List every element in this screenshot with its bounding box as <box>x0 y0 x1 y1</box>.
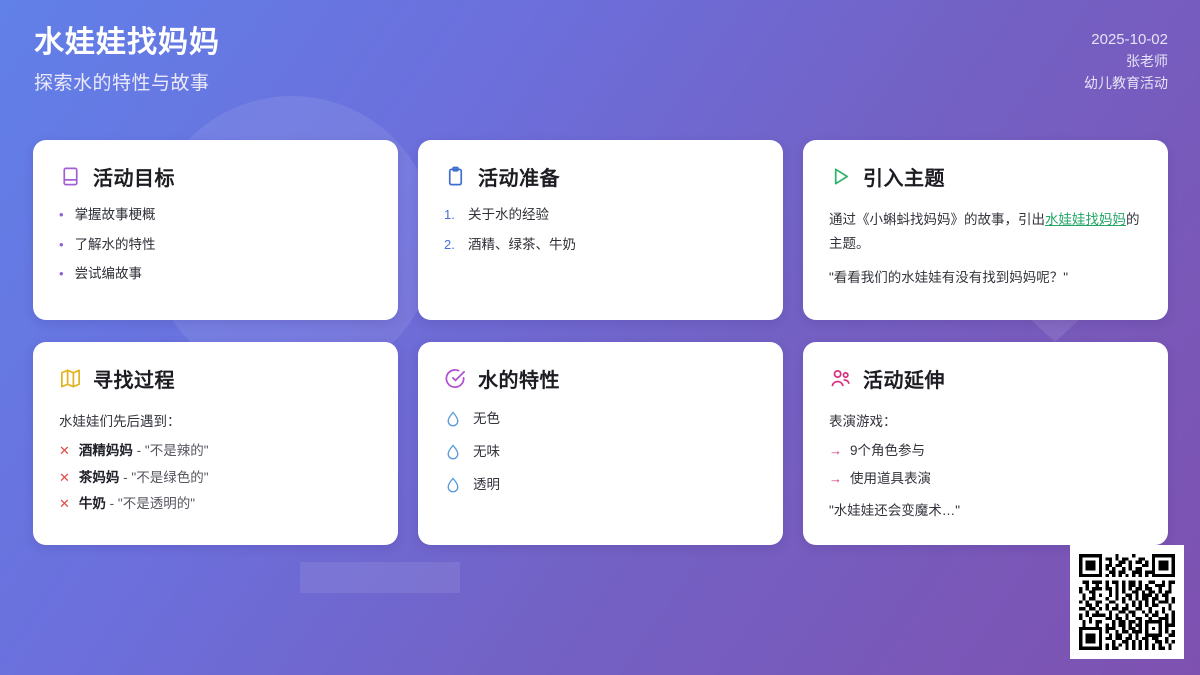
list-item-label: 9个角色参与 <box>850 444 925 458</box>
list-item: 无味 <box>444 443 757 461</box>
card-header: 引入主题 <box>829 162 1142 191</box>
list-item: 无色 <box>444 410 757 428</box>
page-header: 水娃娃找妈妈 探索水的特性与故事 2025-10-02 张老师 幼儿教育活动 <box>0 0 1200 122</box>
bullet-dot: • <box>59 238 64 251</box>
intro-paragraph: 通过《小蝌蚪找妈妈》的故事，引出水娃娃找妈妈的主题。 <box>829 208 1142 255</box>
list-item: 1. 关于水的经验 <box>444 208 757 222</box>
list-item: • 了解水的特性 <box>59 238 372 252</box>
card-activity-preparation[interactable]: 活动准备 1. 关于水的经验 2. 酒精、绿茶、牛奶 <box>418 140 783 320</box>
list-item: • 尝试编故事 <box>59 267 372 281</box>
card-water-properties[interactable]: 水的特性 无色 无味 透明 <box>418 342 783 545</box>
title-block: 水娃娃找妈妈 探索水的特性与故事 <box>34 28 220 93</box>
play-icon <box>829 165 852 188</box>
list-item-label: 使用道具表演 <box>850 472 931 486</box>
droplet-icon <box>444 476 462 494</box>
meta-date: 2025-10-02 <box>1084 28 1168 51</box>
list-item-label: 尝试编故事 <box>75 267 143 281</box>
card-title: 活动目标 <box>93 162 175 191</box>
encounter-row: 酒精妈妈 - "不是辣的" <box>79 444 209 458</box>
users-icon <box>829 367 852 390</box>
encounter-list: ✕ 酒精妈妈 - "不是辣的" ✕ 茶妈妈 - "不是绿色的" ✕ 牛奶 - "… <box>59 444 372 511</box>
list-item: → 9个角色参与 <box>829 444 1142 458</box>
list-item-label: 酒精、绿茶、牛奶 <box>468 238 576 252</box>
card-activity-goals[interactable]: 活动目标 • 掌握故事梗概 • 了解水的特性 • 尝试编故事 <box>33 140 398 320</box>
header-meta: 2025-10-02 张老师 幼儿教育活动 <box>1084 28 1168 95</box>
clipboard-icon <box>444 165 467 188</box>
preparation-list: 1. 关于水的经验 2. 酒精、绿茶、牛奶 <box>444 208 757 251</box>
card-search-process[interactable]: 寻找过程 水娃娃们先后遇到： ✕ 酒精妈妈 - "不是辣的" ✕ 茶妈妈 - "… <box>33 342 398 545</box>
story-link[interactable]: 水娃娃找妈妈 <box>1045 212 1126 227</box>
encounter-quote: - "不是透明的" <box>110 496 195 511</box>
card-header: 寻找过程 <box>59 364 372 393</box>
list-item: ✕ 茶妈妈 - "不是绿色的" <box>59 471 372 485</box>
list-item: 透明 <box>444 476 757 494</box>
list-item-label: 掌握故事梗概 <box>75 208 156 222</box>
card-title: 活动延伸 <box>863 364 945 393</box>
page-title: 水娃娃找妈妈 <box>34 28 220 58</box>
list-item-label: 了解水的特性 <box>75 238 156 252</box>
arrow-icon: → <box>829 472 842 485</box>
bullet-dot: • <box>59 267 64 280</box>
intro-quote: "看看我们的水娃娃有没有找到妈妈呢？" <box>829 266 1142 290</box>
encounter-name: 牛奶 <box>79 496 106 511</box>
droplet-icon <box>444 443 462 461</box>
cross-icon: ✕ <box>59 497 70 510</box>
cross-icon: ✕ <box>59 444 70 457</box>
droplet-icon <box>444 410 462 428</box>
list-item-label: 透明 <box>473 478 500 492</box>
encounter-row: 茶妈妈 - "不是绿色的" <box>79 471 209 485</box>
extension-list: → 9个角色参与 → 使用道具表演 <box>829 444 1142 485</box>
list-item: • 掌握故事梗概 <box>59 208 372 222</box>
page-subtitle: 探索水的特性与故事 <box>34 74 220 93</box>
list-item: ✕ 酒精妈妈 - "不是辣的" <box>59 444 372 458</box>
list-item: → 使用道具表演 <box>829 472 1142 486</box>
list-item-label: 无味 <box>473 445 500 459</box>
qr-code-container[interactable] <box>1070 545 1184 659</box>
card-activity-extension[interactable]: 活动延伸 表演游戏： → 9个角色参与 → 使用道具表演 "水娃娃还会变魔术…" <box>803 342 1168 545</box>
card-grid: 活动目标 • 掌握故事梗概 • 了解水的特性 • 尝试编故事 活动准备 <box>33 140 1174 545</box>
list-item-label: 无色 <box>473 412 500 426</box>
encounter-quote: - "不是绿色的" <box>123 470 208 485</box>
card-header: 活动延伸 <box>829 364 1142 393</box>
card-title: 寻找过程 <box>93 364 175 393</box>
qr-code-icon <box>1079 554 1175 650</box>
card-title: 引入主题 <box>863 162 945 191</box>
card-title: 水的特性 <box>478 364 560 393</box>
encounter-row: 牛奶 - "不是透明的" <box>79 497 195 511</box>
property-list: 无色 无味 透明 <box>444 410 757 494</box>
map-icon <box>59 367 82 390</box>
cross-icon: ✕ <box>59 471 70 484</box>
list-item-number: 1. <box>444 208 457 221</box>
encounter-quote: - "不是辣的" <box>137 443 209 458</box>
list-item: 2. 酒精、绿茶、牛奶 <box>444 238 757 252</box>
card-title: 活动准备 <box>478 162 560 191</box>
intro-text-before: 通过《小蝌蚪找妈妈》的故事，引出 <box>829 212 1045 227</box>
encounter-name: 酒精妈妈 <box>79 443 133 458</box>
decorative-rectangle <box>300 562 460 593</box>
card-header: 活动准备 <box>444 162 757 191</box>
list-item: ✕ 牛奶 - "不是透明的" <box>59 497 372 511</box>
arrow-icon: → <box>829 444 842 457</box>
encounter-name: 茶妈妈 <box>79 470 120 485</box>
meta-category: 幼儿教育活动 <box>1084 73 1168 95</box>
extension-quote: "水娃娃还会变魔术…" <box>829 499 1142 523</box>
book-icon <box>59 165 82 188</box>
meta-author: 张老师 <box>1084 51 1168 73</box>
search-lead: 水娃娃们先后遇到： <box>59 410 372 430</box>
card-header: 活动目标 <box>59 162 372 191</box>
card-introduce-topic[interactable]: 引入主题 通过《小蝌蚪找妈妈》的故事，引出水娃娃找妈妈的主题。 "看看我们的水娃… <box>803 140 1168 320</box>
list-item-number: 2. <box>444 238 457 251</box>
goal-list: • 掌握故事梗概 • 了解水的特性 • 尝试编故事 <box>59 208 372 281</box>
check-circle-icon <box>444 367 467 390</box>
bullet-dot: • <box>59 208 64 221</box>
extension-lead: 表演游戏： <box>829 410 1142 430</box>
list-item-label: 关于水的经验 <box>468 208 549 222</box>
card-header: 水的特性 <box>444 364 757 393</box>
